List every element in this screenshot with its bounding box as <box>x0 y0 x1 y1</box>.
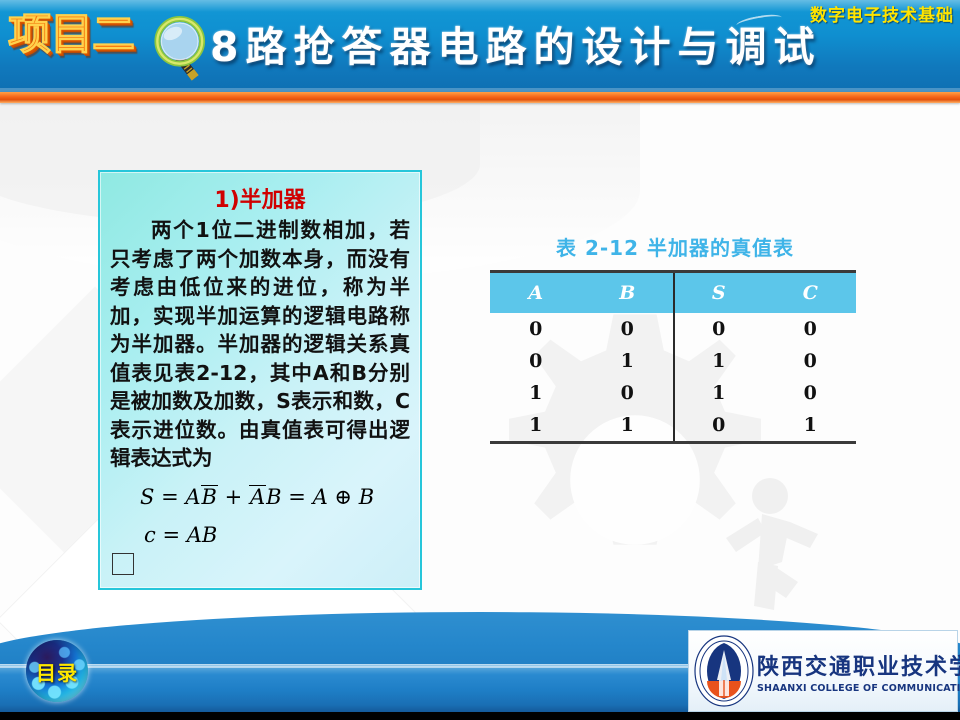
truth-table-body: 0 0 0 0 0 1 1 0 1 0 1 0 1 <box>490 313 856 443</box>
panel-body-text: 两个1位二进制数相加，若只考虑了两个加数本身，而没有考虑由低位来的进位，称为半加… <box>110 216 410 473</box>
column-header-c: C <box>765 272 857 314</box>
cell-a: 0 <box>490 313 582 345</box>
table-row: 1 1 0 1 <box>490 409 856 443</box>
footer-black-strip <box>0 712 960 720</box>
formula-s-term2-a-bar: A <box>249 485 266 508</box>
formula-s-eq2: = <box>288 485 306 509</box>
school-name-en: SHAANXI COLLEGE OF COMMUNICATION TECHNOL… <box>757 683 960 694</box>
school-logo: 陕西交通职业技术学院 SHAANXI COLLEGE OF COMMUNICAT… <box>688 630 958 712</box>
truth-table-block: 表 2-12 半加器的真值表 A B S C 0 0 0 0 0 <box>490 232 860 444</box>
table-row: 0 0 0 0 <box>490 313 856 345</box>
table-row: 0 1 1 0 <box>490 345 856 377</box>
cell-a: 0 <box>490 345 582 377</box>
cell-b: 1 <box>582 345 674 377</box>
formula-s-xor-b: B <box>359 485 374 509</box>
school-name-block: 陕西交通职业技术学院 SHAANXI COLLEGE OF COMMUNICAT… <box>755 649 960 694</box>
cell-s: 0 <box>673 313 765 345</box>
cell-b: 0 <box>582 377 674 409</box>
formula-s-term2-b: B <box>266 485 281 509</box>
formula-carry: c = AB <box>144 523 410 547</box>
project-badge: 项目二 <box>6 8 196 84</box>
truth-table-head: A B S C <box>490 272 856 314</box>
toc-button-label: 目录 <box>26 640 88 702</box>
table-header-row: A B S C <box>490 272 856 314</box>
school-emblem-icon <box>693 634 755 708</box>
formula-s-eq1: = <box>161 485 179 509</box>
formula-s-xor-a: A <box>313 485 328 509</box>
formula-s-lhs: S <box>140 485 154 509</box>
cell-c: 0 <box>765 377 857 409</box>
table-row: 1 0 1 0 <box>490 377 856 409</box>
school-name-cn: 陕西交通职业技术学院 <box>757 649 960 681</box>
cell-s: 0 <box>673 409 765 443</box>
cell-b: 1 <box>582 409 674 443</box>
cell-s: 1 <box>673 345 765 377</box>
column-header-b: B <box>582 272 674 314</box>
formula-c-rhs: AB <box>187 523 218 547</box>
content-text-panel: 1)半加器 两个1位二进制数相加，若只考虑了两个加数本身，而没有考虑由低位来的进… <box>98 170 422 590</box>
column-header-s: S <box>673 272 765 314</box>
formula-s-plus: + <box>225 485 243 509</box>
magnifier-icon <box>131 14 209 88</box>
panel-heading: 1)半加器 <box>110 182 410 214</box>
formula-c-lhs: c <box>144 523 156 547</box>
formula-sum: S = AB + AB = A ⊕ B <box>140 485 410 509</box>
empty-placeholder-box <box>112 553 134 575</box>
cell-c: 0 <box>765 345 857 377</box>
cell-b: 0 <box>582 313 674 345</box>
slide-canvas: 项目二 8路抢答器电路的设计与调试 数字电子技术基础 1)半加器 两 <box>0 0 960 720</box>
cell-s: 1 <box>673 377 765 409</box>
slide-header: 项目二 8路抢答器电路的设计与调试 数字电子技术基础 <box>0 0 960 92</box>
cell-a: 1 <box>490 377 582 409</box>
formula-s-term1-a: A <box>185 485 200 509</box>
truth-table: A B S C 0 0 0 0 0 1 1 0 <box>490 270 856 444</box>
header-orange-divider <box>0 92 960 103</box>
cell-c: 1 <box>765 409 857 443</box>
cell-a: 1 <box>490 409 582 443</box>
formula-c-eq: = <box>162 523 180 547</box>
xor-operator-icon: ⊕ <box>334 485 352 509</box>
page-title: 8路抢答器电路的设计与调试 <box>210 16 910 78</box>
toc-button[interactable]: 目录 <box>26 640 88 702</box>
course-label: 数字电子技术基础 <box>810 1 954 26</box>
project-label: 项目二 <box>8 14 134 57</box>
cell-c: 0 <box>765 313 857 345</box>
table-caption: 表 2-12 半加器的真值表 <box>490 232 860 261</box>
column-header-a: A <box>490 272 582 314</box>
formula-s-term1-b-bar: B <box>201 485 218 508</box>
